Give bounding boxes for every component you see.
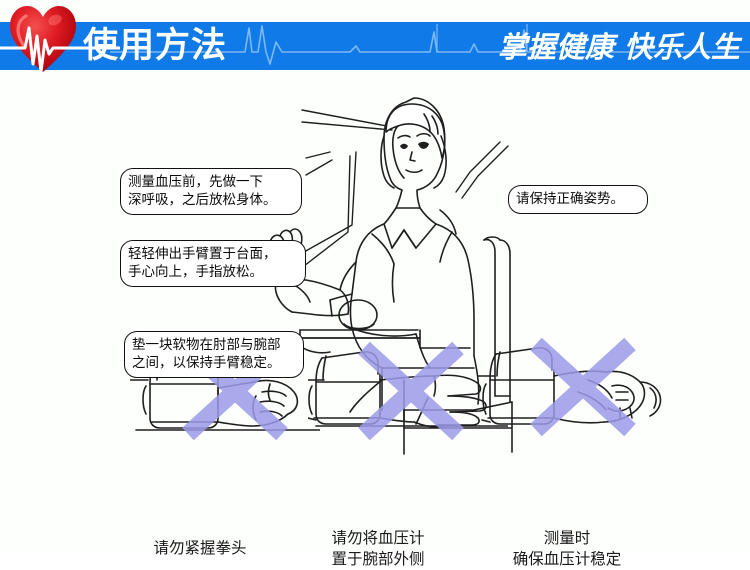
cross-mark: [364, 348, 458, 434]
illustration-stage: 测量血压前，先做一下 深呼吸，之后放松身体。 轻轻伸出手臂置于台面， 手心向上，…: [0, 80, 750, 554]
callout-arm: 轻轻伸出手臂置于台面， 手心向上，手指放松。: [120, 240, 306, 287]
caption-ensure-stable: 测量时 确保血压计稳定: [452, 528, 682, 570]
callout-breathe-line2: 深呼吸，之后放松身体。: [128, 191, 294, 209]
page-header: 使用方法 掌握健康 快乐人生: [0, 0, 750, 80]
callout-arm-line2: 手心向上，手指放松。: [128, 263, 298, 281]
header-tagline: 掌握健康 快乐人生: [498, 25, 740, 69]
dont-example-unstable-illustration: [478, 330, 678, 445]
caption-ensure-stable-line2: 确保血压计稳定: [452, 549, 682, 570]
callout-breathe: 测量血压前，先做一下 深呼吸，之后放松身体。: [120, 168, 302, 215]
callout-breathe-line1: 测量血压前，先做一下: [128, 173, 294, 191]
callout-cushion-line1: 垫一块软物在肘部与腕部: [132, 336, 296, 354]
callout-cushion: 垫一块软物在肘部与腕部 之间，以保持手臂稳定。: [124, 331, 304, 378]
caption-dont-fist: 请勿紧握拳头: [100, 538, 300, 559]
caption-dont-outside-wrist: 请勿将血压计 置于腕部外侧: [278, 528, 478, 570]
cross-mark: [536, 344, 630, 430]
caption-ensure-stable-line1: 测量时: [452, 528, 682, 549]
callout-cushion-line2: 之间，以保持手臂稳定。: [132, 354, 296, 372]
callout-posture: 请保持正确姿势。: [508, 185, 648, 214]
callout-leader-lines: [302, 110, 508, 266]
callout-arm-line1: 轻轻伸出手臂置于台面，: [128, 245, 298, 263]
caption-dont-fist-line1: 请勿紧握拳头: [100, 538, 300, 559]
callout-posture-line1: 请保持正确姿势。: [516, 190, 640, 208]
caption-dont-outside-wrist-line1: 请勿将血压计: [278, 528, 478, 549]
seated-person-illustration: [0, 80, 750, 554]
caption-dont-outside-wrist-line2: 置于腕部外侧: [278, 549, 478, 570]
heart-pulse-icon: [0, 14, 120, 76]
